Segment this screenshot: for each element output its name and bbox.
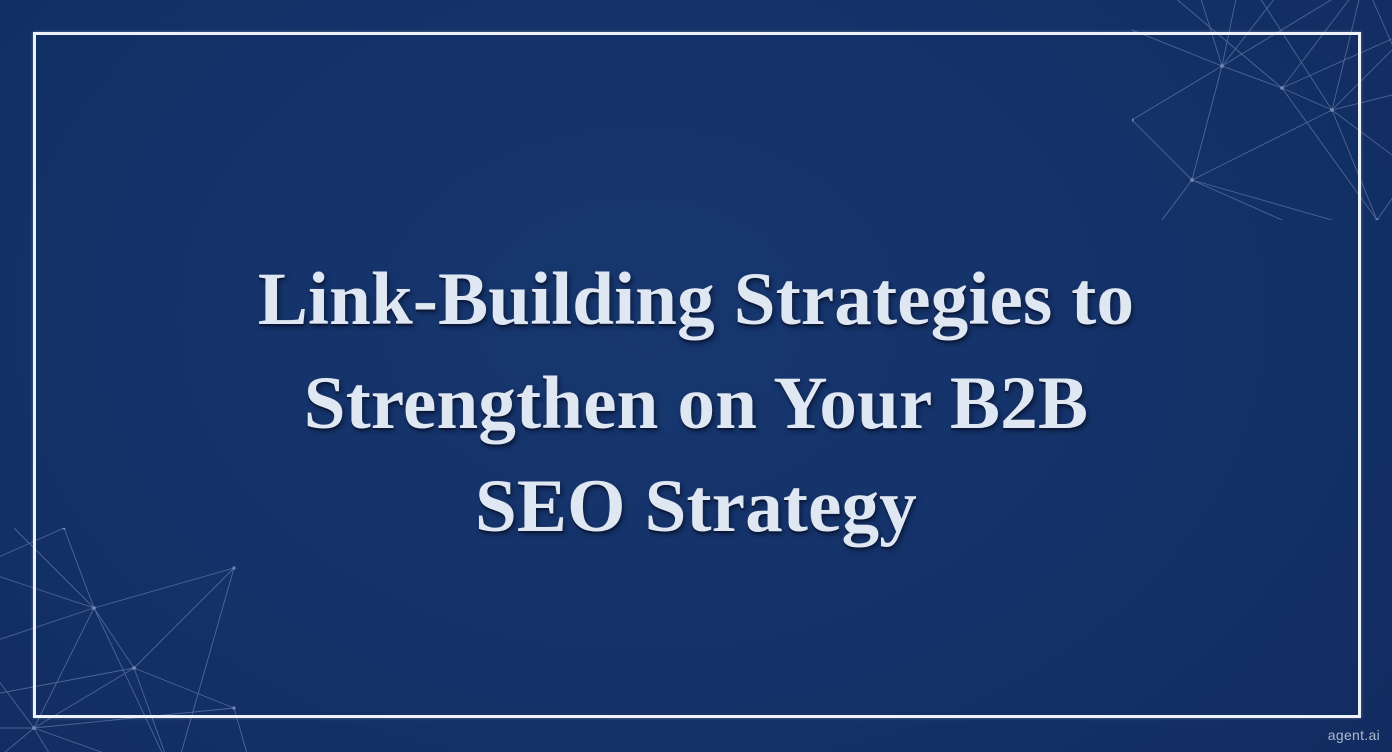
page-title: Link-Building Strategies to Strengthen o… <box>166 248 1226 559</box>
agent-ai-watermark: agent.ai <box>1328 727 1380 743</box>
title-slide: Link-Building Strategies to Strengthen o… <box>0 0 1392 752</box>
title-line-2: Strengthen on Your B2B <box>166 352 1226 456</box>
title-line-1: Link-Building Strategies to <box>166 248 1226 352</box>
title-block: Link-Building Strategies to Strengthen o… <box>0 248 1392 559</box>
title-line-3: SEO Strategy <box>166 455 1226 559</box>
